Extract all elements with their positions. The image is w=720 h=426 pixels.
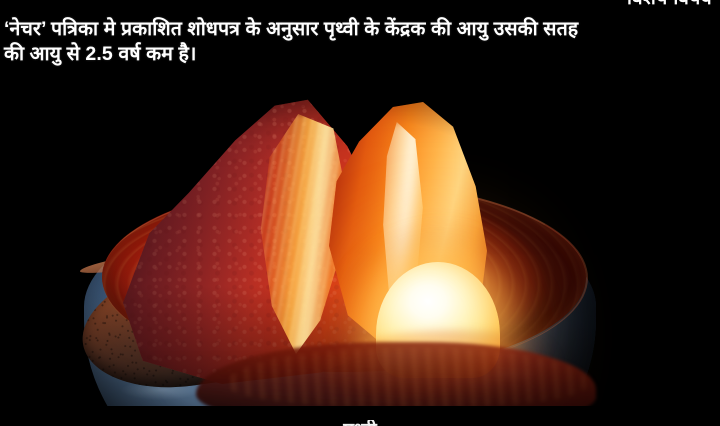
caption-body-line-1: ‘नेचर’ पत्रिका मे प्रकाशित शोधपत्र के अन… — [4, 17, 718, 42]
earth-cutaway-illustration — [0, 86, 720, 406]
clipped-headline-top: विशेष विषय — [0, 0, 720, 10]
caption-body-line-2: की आयु से 2.5 वर्ष कम है। — [4, 42, 718, 67]
earth-stage — [76, 86, 604, 406]
caption-body: ‘नेचर’ पत्रिका मे प्रकाशित शोधपत्र के अन… — [4, 17, 718, 67]
clipped-footer-text: पृथ्वी — [0, 420, 720, 426]
slide-canvas: विशेष विषय ‘नेचर’ पत्रिका मे प्रकाशित शो… — [0, 0, 720, 426]
